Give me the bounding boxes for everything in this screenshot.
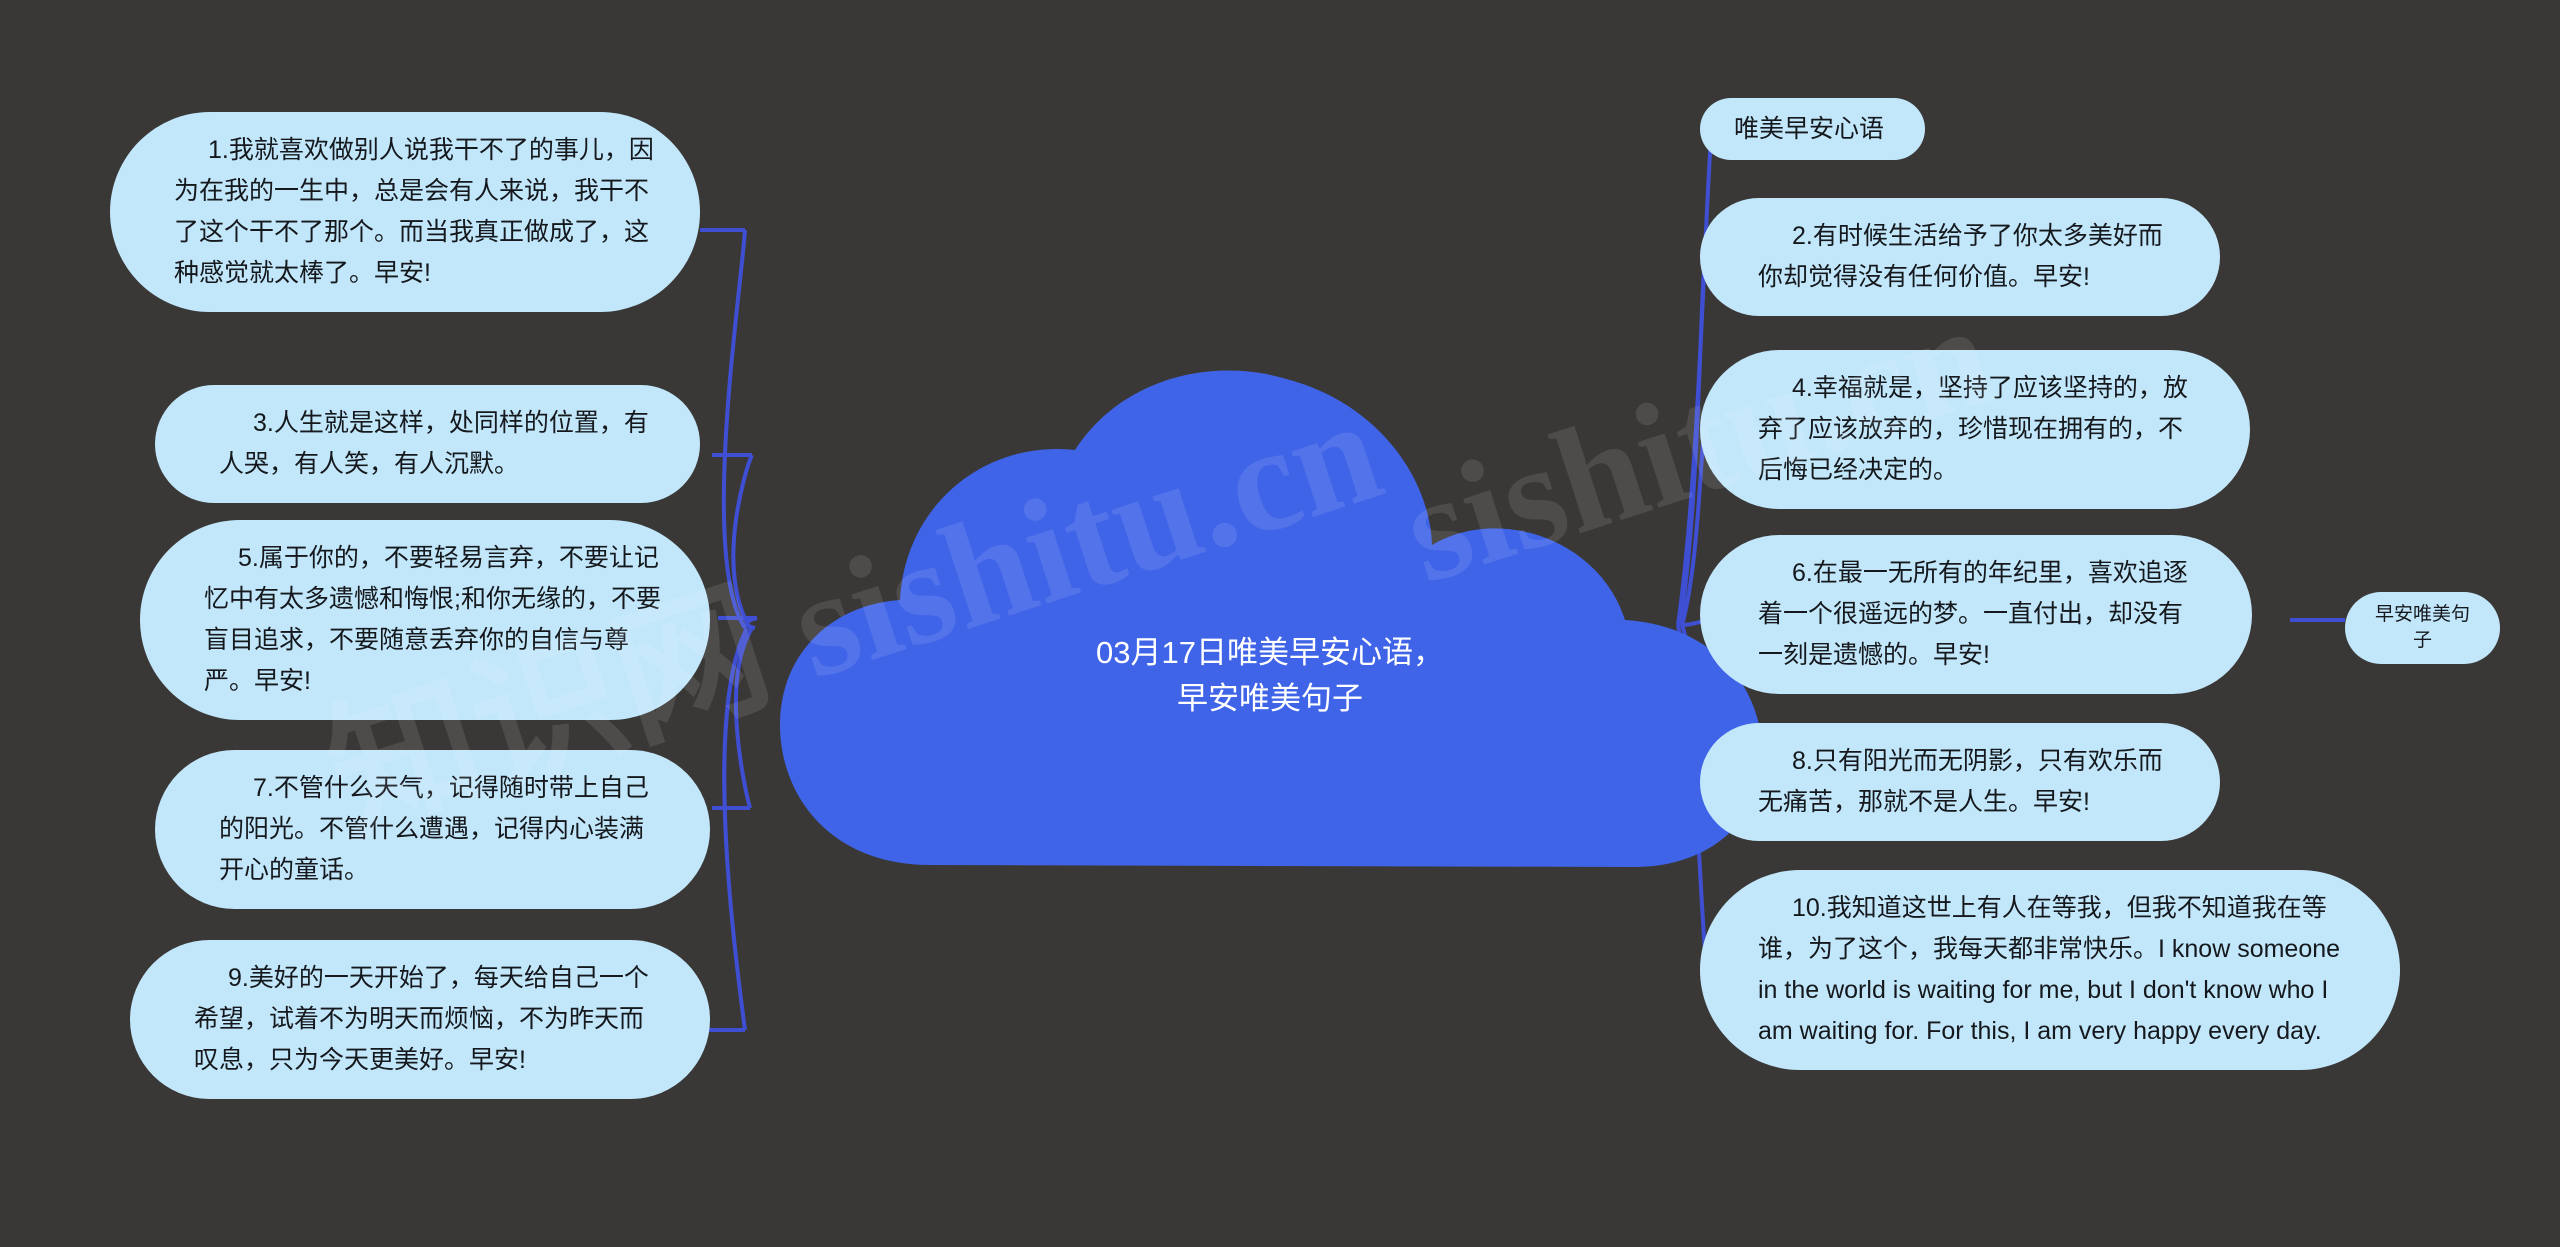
node-7[interactable]: 7.不管什么天气，记得随时带上自己的阳光。不管什么遭遇，记得内心装满开心的童话。 [155, 750, 710, 909]
node-9[interactable]: 9.美好的一天开始了，每天给自己一个希望，试着不为明天而烦恼，不为昨天而叹息，只… [130, 940, 710, 1099]
node-title-right[interactable]: 唯美早安心语 [1700, 98, 1925, 160]
node-tag-text: 早安唯美句子 [2367, 602, 2478, 654]
node-4[interactable]: 4.幸福就是，坚持了应该坚持的，放弃了应该放弃的，珍惜现在拥有的，不后悔已经决定… [1700, 350, 2250, 509]
node-8-text: 8.只有阳光而无阴影，只有欢乐而无痛苦，那就不是人生。早安! [1758, 741, 2170, 823]
node-2-text: 2.有时候生活给予了你太多美好而你却觉得没有任何价值。早安! [1758, 216, 2170, 298]
mindmap-canvas: 知识网 sishitu.cn sishitu.cn [0, 0, 2560, 1247]
node-4-text: 4.幸福就是，坚持了应该坚持的，放弃了应该放弃的，珍惜现在拥有的，不后悔已经决定… [1758, 368, 2200, 491]
connector-node-3 [733, 455, 752, 628]
node-title-right-text: 唯美早安心语 [1734, 112, 1891, 146]
node-5[interactable]: 5.属于你的，不要轻易言弃，不要让记忆中有太多遗憾和悔恨;和你无缘的，不要盲目追… [140, 520, 710, 720]
node-tag[interactable]: 早安唯美句子 [2345, 592, 2500, 664]
node-2[interactable]: 2.有时候生活给予了你太多美好而你却觉得没有任何价值。早安! [1700, 198, 2220, 316]
node-9-text: 9.美好的一天开始了，每天给自己一个希望，试着不为明天而烦恼，不为昨天而叹息，只… [194, 958, 664, 1081]
node-6-text: 6.在最一无所有的年纪里，喜欢追逐着一个很遥远的梦。一直付出，却没有一刻是遗憾的… [1758, 553, 2202, 676]
node-10-text: 10.我知道这世上有人在等我，但我不知道我在等谁，为了这个，我每天都非常快乐。I… [1758, 888, 2350, 1052]
node-1[interactable]: 1.我就喜欢做别人说我干不了的事儿，因为在我的一生中，总是会有人来说，我干不了这… [110, 112, 700, 312]
node-8[interactable]: 8.只有阳光而无阴影，只有欢乐而无痛苦，那就不是人生。早安! [1700, 723, 2220, 841]
center-cloud-shape [770, 355, 1770, 885]
node-3[interactable]: 3.人生就是这样，处同样的位置，有人哭，有人笑，有人沉默。 [155, 385, 700, 503]
node-1-text: 1.我就喜欢做别人说我干不了的事儿，因为在我的一生中，总是会有人来说，我干不了这… [174, 130, 654, 294]
node-5-text: 5.属于你的，不要轻易言弃，不要让记忆中有太多遗憾和悔恨;和你无缘的，不要盲目追… [204, 538, 664, 702]
node-6[interactable]: 6.在最一无所有的年纪里，喜欢追逐着一个很遥远的梦。一直付出，却没有一刻是遗憾的… [1700, 535, 2252, 694]
node-3-text: 3.人生就是这样，处同样的位置，有人哭，有人笑，有人沉默。 [219, 403, 654, 485]
node-10[interactable]: 10.我知道这世上有人在等我，但我不知道我在等谁，为了这个，我每天都非常快乐。I… [1700, 870, 2400, 1070]
node-7-text: 7.不管什么天气，记得随时带上自己的阳光。不管什么遭遇，记得内心装满开心的童话。 [219, 768, 664, 891]
